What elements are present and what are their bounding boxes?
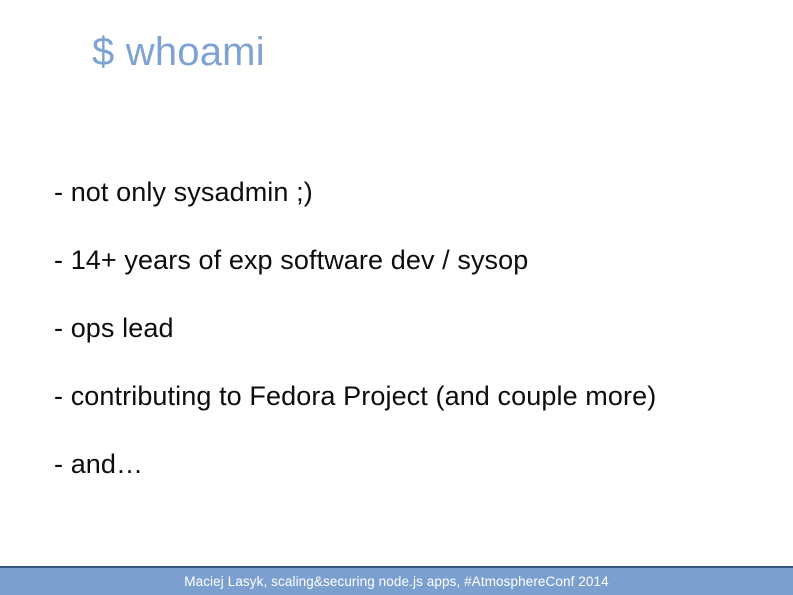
page-title: $ whoami: [92, 28, 265, 76]
presentation-slide: $ whoami - not only sysadmin ;) - 14+ ye…: [0, 0, 793, 595]
list-item: - 14+ years of exp software dev / sysop: [54, 246, 754, 314]
slide-footer-bar: Maciej Lasyk, scaling&securing node.js a…: [0, 566, 793, 595]
list-item: - ops lead: [54, 314, 754, 382]
list-item: - contributing to Fedora Project (and co…: [54, 382, 754, 450]
list-item: - not only sysadmin ;): [54, 178, 754, 246]
footer-text: Maciej Lasyk, scaling&securing node.js a…: [184, 574, 609, 589]
bullet-list: - not only sysadmin ;) - 14+ years of ex…: [54, 178, 754, 518]
list-item: - and…: [54, 450, 754, 518]
